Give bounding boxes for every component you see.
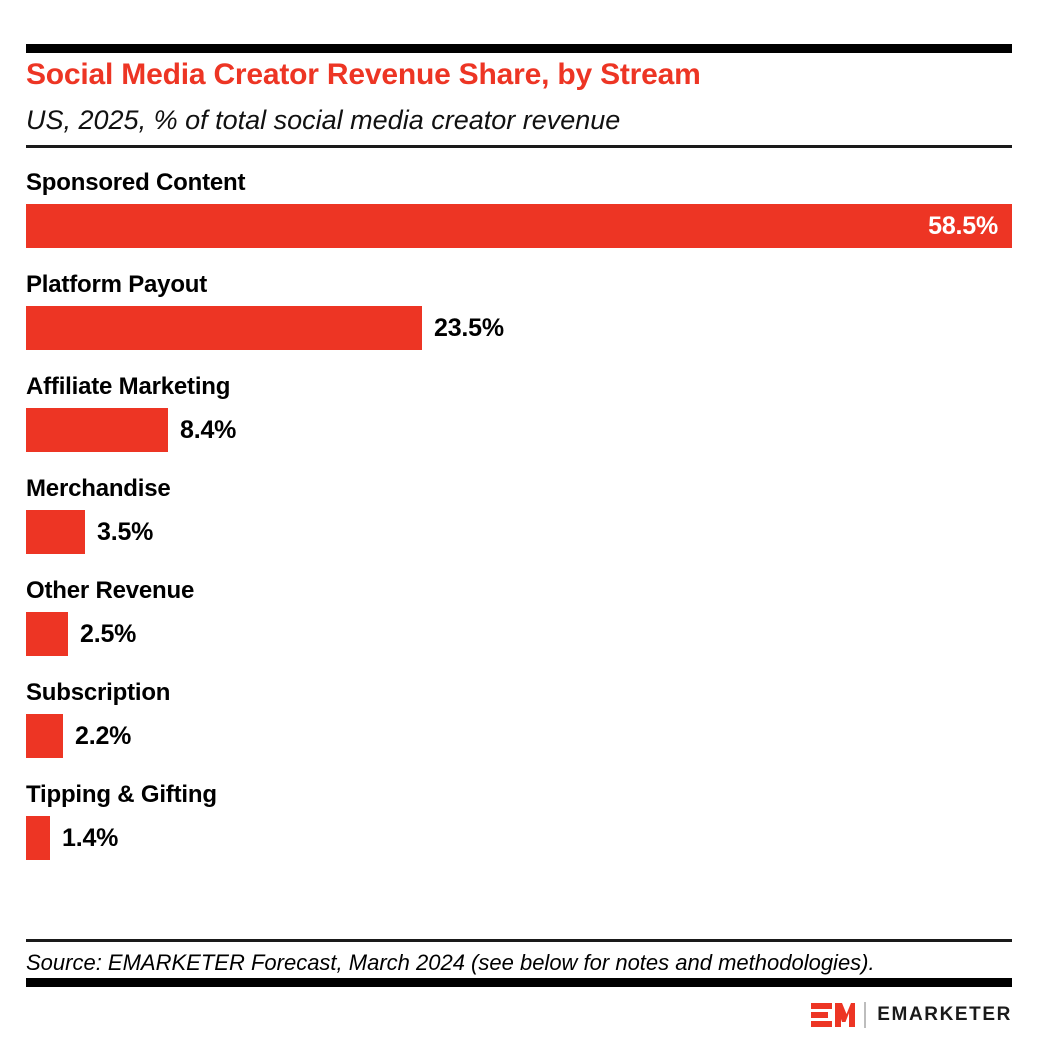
bar[interactable] — [26, 408, 168, 452]
category-label: Affiliate Marketing — [26, 372, 230, 402]
bar[interactable] — [26, 510, 85, 554]
bar-value-label: 8.4% — [180, 408, 236, 452]
bar-value-label: 3.5% — [97, 510, 153, 554]
bar-line: 58.5% — [26, 204, 1012, 248]
bar[interactable]: 58.5% — [26, 204, 1012, 248]
bar-value-label: 2.2% — [75, 714, 131, 758]
bar-value-label: 2.5% — [80, 612, 136, 656]
category-label: Other Revenue — [26, 576, 194, 606]
chart-row: Subscription2.2% — [26, 678, 1012, 780]
header-top-rule — [26, 44, 1012, 53]
category-label: Merchandise — [26, 474, 171, 504]
category-label: Subscription — [26, 678, 170, 708]
bar[interactable] — [26, 714, 63, 758]
emarketer-logo: EMARKETER — [811, 1000, 1012, 1030]
chart-row: Platform Payout23.5% — [26, 270, 1012, 372]
bar-value-label: 1.4% — [62, 816, 118, 860]
bar-chart: Sponsored Content58.5%Platform Payout23.… — [26, 168, 1012, 882]
bar-value-label: 58.5% — [928, 204, 998, 248]
bar-line: 23.5% — [26, 306, 1012, 350]
chart-content-area: Social Media Creator Revenue Share, by S… — [26, 0, 1012, 1058]
logo-divider — [864, 1002, 866, 1028]
chart-page: Social Media Creator Revenue Share, by S… — [0, 0, 1040, 1058]
category-label: Platform Payout — [26, 270, 207, 300]
page-title: Social Media Creator Revenue Share, by S… — [26, 57, 1012, 93]
category-label: Sponsored Content — [26, 168, 245, 198]
bar-line: 1.4% — [26, 816, 1012, 860]
chart-row: Merchandise3.5% — [26, 474, 1012, 576]
em-monogram-icon — [811, 1002, 855, 1028]
bar-line: 2.5% — [26, 612, 1012, 656]
bar-value-label: 23.5% — [434, 306, 504, 350]
bar-line: 3.5% — [26, 510, 1012, 554]
category-label: Tipping & Gifting — [26, 780, 217, 810]
chart-row: Affiliate Marketing8.4% — [26, 372, 1012, 474]
source-top-rule — [26, 939, 1012, 942]
page-subtitle: US, 2025, % of total social media creato… — [26, 104, 1012, 137]
chart-row: Sponsored Content58.5% — [26, 168, 1012, 270]
bar[interactable] — [26, 306, 422, 350]
source-bottom-rule — [26, 978, 1012, 987]
header-bottom-rule — [26, 145, 1012, 148]
bar[interactable] — [26, 816, 50, 860]
bar-line: 8.4% — [26, 408, 1012, 452]
chart-row: Other Revenue2.5% — [26, 576, 1012, 678]
source-note: Source: EMARKETER Forecast, March 2024 (… — [26, 948, 1012, 978]
chart-row: Tipping & Gifting1.4% — [26, 780, 1012, 882]
bar[interactable] — [26, 612, 68, 656]
logo-wordmark: EMARKETER — [877, 1002, 1012, 1028]
bar-line: 2.2% — [26, 714, 1012, 758]
